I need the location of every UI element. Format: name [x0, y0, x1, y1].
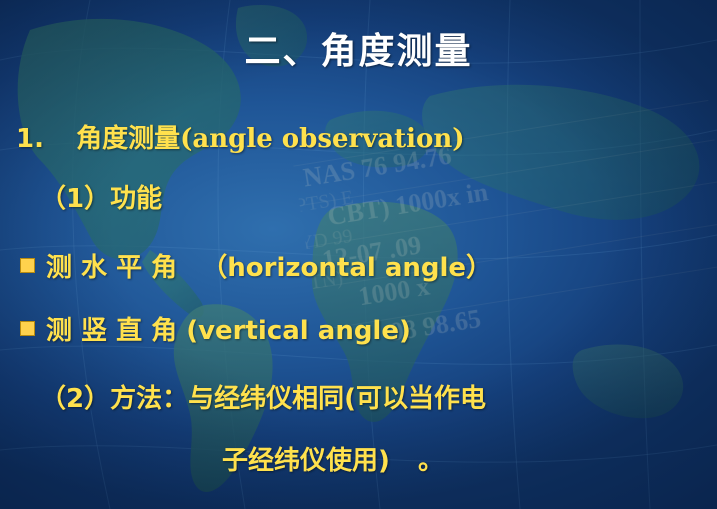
bullet-marker-2-icon: [20, 321, 35, 336]
item-1: （1）功能: [40, 178, 162, 215]
heading-line: 1. 角度测量(angle observation): [16, 118, 465, 155]
bullet-2-cjk: 测 竖 直 角: [46, 316, 177, 346]
bullet-2: 测 竖 直 角 (vertical angle): [46, 310, 411, 347]
bullet-2-en: (vertical angle): [186, 316, 411, 346]
item-2-paren-open: (可以当作电: [344, 384, 486, 414]
bullet-1-en: （horizontal angle）: [201, 253, 492, 283]
item-2-first-line: （2）方法：与经纬仪相同(可以当作电: [40, 378, 486, 415]
bullet-marker-1-icon: [20, 258, 35, 273]
bullet-1-cjk: 测 水 平 角: [46, 253, 177, 283]
bullet-1: 测 水 平 角 （horizontal angle）: [46, 247, 492, 284]
heading-en: (angle observation): [180, 124, 465, 154]
item-2-text: （2）方法：与经纬仪相同: [40, 384, 344, 414]
item-2-continuation: 子经纬仪使用): [222, 446, 390, 476]
item-2-period: 。: [418, 446, 444, 476]
slide: NAS 76 94.76 CBT) 1000x in 12-07 .09 100…: [0, 0, 717, 509]
item-2-second-line: 子经纬仪使用) 。: [222, 440, 444, 477]
heading-cjk: 角度测量: [76, 124, 180, 154]
slide-content: 二、角度测量 1. 角度测量(angle observation) （1）功能 …: [0, 0, 717, 509]
heading-number: 1.: [16, 124, 44, 154]
slide-title: 二、角度测量: [0, 22, 717, 74]
